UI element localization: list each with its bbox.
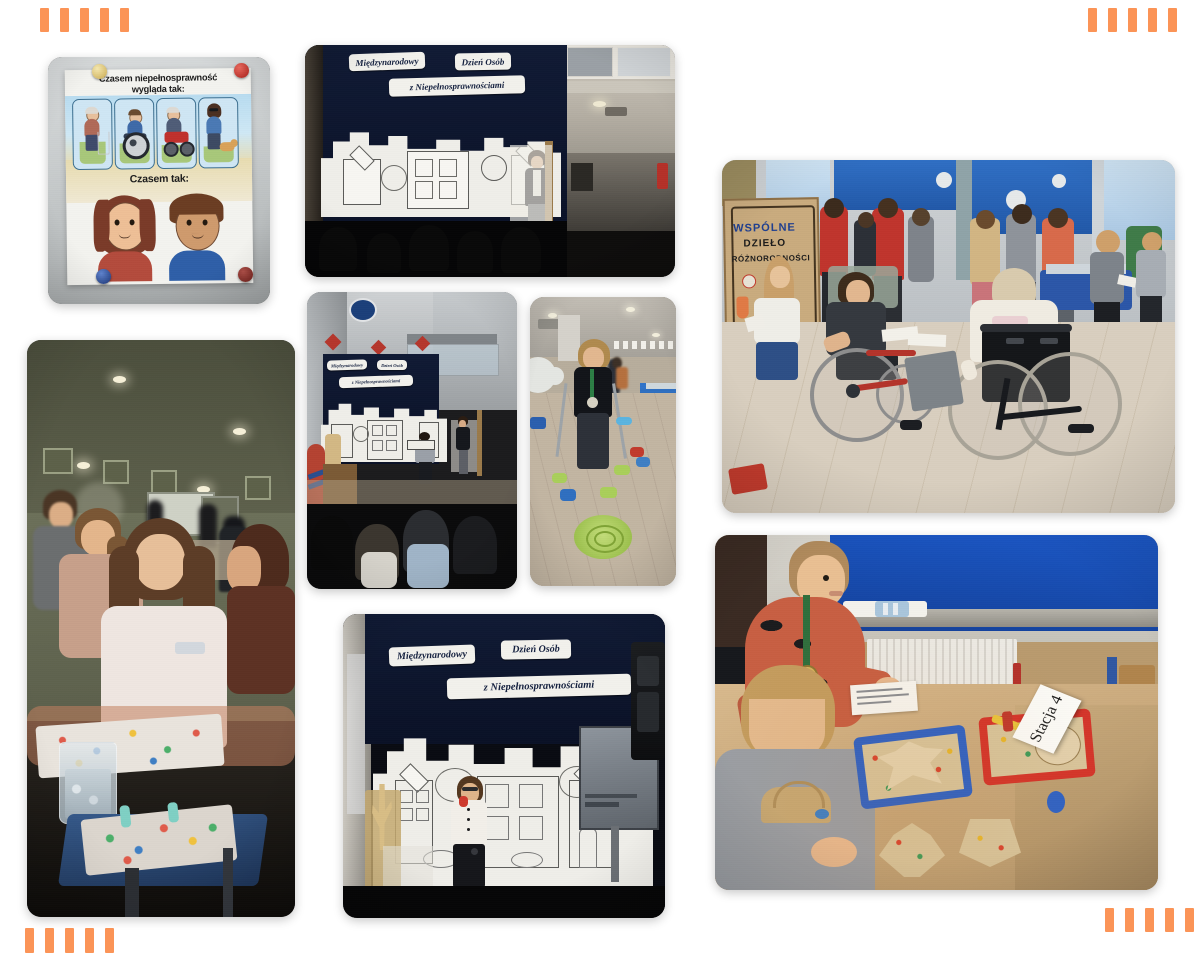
- glass-jar: [59, 742, 117, 824]
- photo-stage-speaker[interactable]: Międzynarodowy Dzień Osób z Niepełnospra…: [343, 614, 665, 918]
- pin-bottom-right: [238, 267, 253, 282]
- photo-hall-audience[interactable]: Międzynarodowy Dzień Osób z Niepełnospra…: [307, 292, 517, 589]
- photo-wheelchairs[interactable]: WSPÓLNE DZIEŁO RÓŻNORODNOŚCI: [722, 160, 1175, 513]
- poster-panel-wheelchair: [114, 98, 155, 169]
- banner-word-miedzynarodowy: Międzynarodowy: [327, 359, 367, 370]
- banner-word-dzien-osob: Dzień Osób: [501, 639, 571, 659]
- hall-presenter: [455, 416, 471, 474]
- ticks-top-left: [40, 8, 129, 32]
- poster-panel-guide-dog: [198, 97, 239, 168]
- ticks-bottom-left: [25, 928, 114, 953]
- pin-bottom-left: [96, 269, 111, 284]
- poster-line-2: DZIEŁO: [743, 237, 813, 249]
- banner-word-miedzynarodowy: Międzynarodowy: [389, 645, 476, 667]
- photo-poster-disability[interactable]: Czasem niepełnosprawność wygląda tak:: [48, 57, 270, 304]
- photo-station-4[interactable]: Stacja 4: [715, 535, 1158, 890]
- banner-word-dzien-osob: Dzień Osób: [455, 53, 511, 71]
- poster-figure-boy: [163, 192, 230, 279]
- photo-stage-banner-wide[interactable]: Międzynarodowy Dzień Osób z Niepełnospra…: [305, 45, 675, 277]
- banner-word-dzien-osob: Dzień Osób: [377, 360, 407, 370]
- walking-girl: [746, 256, 804, 380]
- ticks-bottom-right: [1105, 908, 1194, 932]
- banner-line-niepelnosprawnosciami: z Niepełnosprawnościami: [389, 75, 525, 97]
- pin-top-right: [234, 63, 249, 78]
- wheelchair-right: [948, 268, 1108, 464]
- poster-panel-scooter: [156, 98, 197, 169]
- ticks-top-right: [1088, 8, 1177, 32]
- pin-top-left: [92, 64, 107, 79]
- workshop-person-right: [227, 524, 295, 694]
- speaker-cabinet: [631, 642, 665, 760]
- stage-speaker-person: [447, 776, 491, 904]
- poster-panel-walker: [72, 99, 113, 170]
- photo-balance-crutches[interactable]: [530, 297, 676, 586]
- collage-canvas: Czasem niepełnosprawność wygląda tak:: [0, 0, 1200, 960]
- photo-workshop-table[interactable]: [27, 340, 295, 917]
- poster-figure-girl: [91, 193, 158, 280]
- banner-word-miedzynarodowy: Międzynarodowy: [349, 52, 426, 72]
- poster-line-1: WSPÓLNE: [733, 221, 813, 234]
